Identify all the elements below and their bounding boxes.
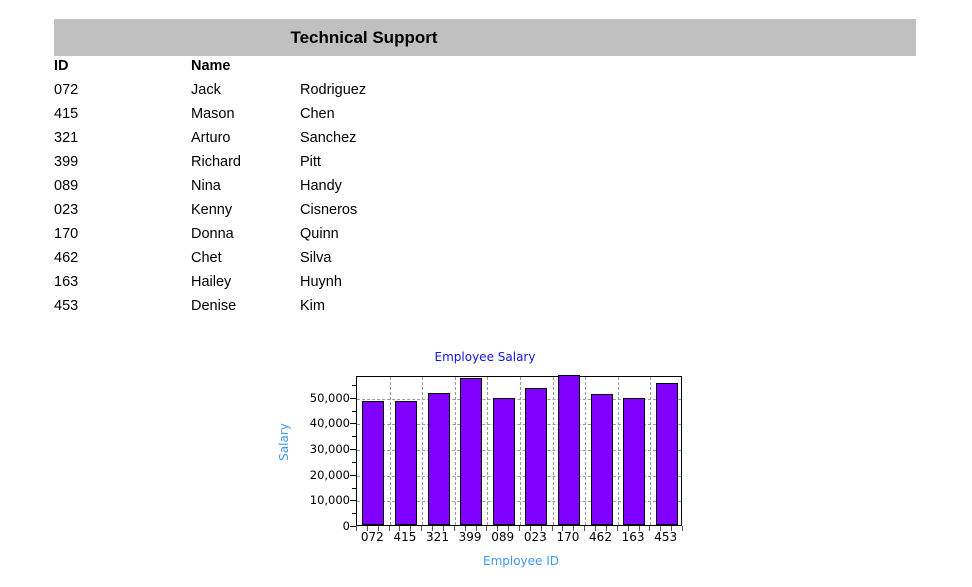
table-row: 089NinaHandy	[54, 178, 754, 202]
cell-first-name: Richard	[191, 154, 241, 170]
chart-plot-area	[356, 376, 682, 526]
y-axis-tick-label: 20,000	[288, 468, 350, 482]
gridline-vertical	[390, 377, 391, 525]
x-axis-tick-mark	[465, 526, 466, 531]
cell-last-name: Handy	[300, 178, 342, 194]
table-header-row: ID Name	[54, 58, 754, 82]
table-row: 415MasonChen	[54, 106, 754, 130]
chart-bar	[395, 401, 417, 525]
x-axis-tick-mark	[562, 526, 563, 531]
y-axis-tick-label: 0	[288, 519, 350, 533]
x-axis-tick-mark	[356, 526, 357, 531]
y-axis-tick-label: 40,000	[288, 416, 350, 430]
x-axis-tick-mark	[671, 526, 672, 531]
x-axis-tick-mark	[530, 526, 531, 531]
table-row: 453DeniseKim	[54, 298, 754, 322]
gridline-vertical	[553, 377, 554, 525]
x-axis-tick-mark	[552, 526, 553, 531]
x-axis-tick-mark	[508, 526, 509, 531]
cell-first-name: Donna	[191, 226, 234, 242]
cell-employee-id: 023	[54, 202, 78, 218]
table-row: 163HaileyHuynh	[54, 274, 754, 298]
x-axis-tick-mark	[367, 526, 368, 531]
chart-bar	[558, 375, 580, 525]
x-axis-tick-mark	[476, 526, 477, 531]
chart-bar	[623, 398, 645, 525]
x-axis-tick-mark	[628, 526, 629, 531]
table-row: 072JackRodriguez	[54, 82, 754, 106]
column-header-name: Name	[191, 58, 231, 74]
employee-salary-chart: Employee Salary Salary Employee ID 010,0…	[270, 345, 700, 575]
x-axis-tick-mark	[454, 526, 455, 531]
report-page: Technical Support ID Name 072JackRodrigu…	[0, 0, 972, 587]
x-axis-tick-mark	[660, 526, 661, 531]
column-header-id: ID	[54, 58, 69, 74]
chart-bar	[525, 388, 547, 525]
x-axis-tick-mark	[606, 526, 607, 531]
x-axis-tick-mark	[399, 526, 400, 531]
cell-employee-id: 163	[54, 274, 78, 290]
cell-employee-id: 415	[54, 106, 78, 122]
cell-last-name: Huynh	[300, 274, 342, 290]
cell-last-name: Sanchez	[300, 130, 356, 146]
page-title: Technical Support	[54, 28, 674, 48]
gridline-vertical	[585, 377, 586, 525]
x-axis-tick-mark	[682, 526, 683, 531]
chart-bar	[460, 378, 482, 525]
chart-title: Employee Salary	[270, 350, 700, 364]
cell-first-name: Denise	[191, 298, 236, 314]
cell-employee-id: 170	[54, 226, 78, 242]
y-axis-tick-label: 50,000	[288, 391, 350, 405]
x-axis-tick-mark	[443, 526, 444, 531]
employee-table: ID Name 072JackRodriguez415MasonChen321A…	[54, 58, 754, 322]
x-axis-tick-mark	[639, 526, 640, 531]
x-axis-tick-mark	[649, 526, 650, 531]
cell-employee-id: 072	[54, 82, 78, 98]
table-row: 170DonnaQuinn	[54, 226, 754, 250]
gridline-vertical	[520, 377, 521, 525]
chart-bar	[493, 398, 515, 525]
table-row: 399RichardPitt	[54, 154, 754, 178]
x-axis-tick-label: 453	[646, 530, 686, 544]
x-axis-tick-mark	[573, 526, 574, 531]
cell-first-name: Jack	[191, 82, 221, 98]
cell-employee-id: 321	[54, 130, 78, 146]
cell-employee-id: 453	[54, 298, 78, 314]
table-row: 023KennyCisneros	[54, 202, 754, 226]
cell-employee-id: 089	[54, 178, 78, 194]
x-axis-tick-mark	[541, 526, 542, 531]
x-axis-tick-mark	[378, 526, 379, 531]
x-axis-tick-mark	[432, 526, 433, 531]
cell-last-name: Silva	[300, 250, 331, 266]
cell-last-name: Kim	[300, 298, 325, 314]
x-axis-tick-mark	[519, 526, 520, 531]
chart-bar	[362, 401, 384, 525]
cell-last-name: Rodriguez	[300, 82, 366, 98]
x-axis-tick-mark	[486, 526, 487, 531]
table-row: 462ChetSilva	[54, 250, 754, 274]
gridline-vertical	[422, 377, 423, 525]
x-axis-tick-mark	[617, 526, 618, 531]
cell-first-name: Mason	[191, 106, 235, 122]
cell-last-name: Chen	[300, 106, 335, 122]
cell-last-name: Pitt	[300, 154, 321, 170]
chart-x-axis-label: Employee ID	[356, 554, 686, 568]
x-axis-tick-mark	[595, 526, 596, 531]
gridline-vertical	[487, 377, 488, 525]
gridline-vertical	[618, 377, 619, 525]
cell-last-name: Cisneros	[300, 202, 357, 218]
cell-first-name: Arturo	[191, 130, 231, 146]
x-axis-tick-mark	[497, 526, 498, 531]
chart-bar	[656, 383, 678, 525]
x-axis-tick-mark	[421, 526, 422, 531]
cell-first-name: Kenny	[191, 202, 232, 218]
table-body: 072JackRodriguez415MasonChen321ArturoSan…	[54, 82, 754, 322]
y-axis-tick-label: 10,000	[288, 493, 350, 507]
x-axis-tick-mark	[584, 526, 585, 531]
x-axis-tick-mark	[410, 526, 411, 531]
gridline-vertical	[650, 377, 651, 525]
cell-employee-id: 462	[54, 250, 78, 266]
x-axis-tick-mark	[389, 526, 390, 531]
table-row: 321ArturoSanchez	[54, 130, 754, 154]
chart-bar	[428, 393, 450, 525]
cell-first-name: Nina	[191, 178, 221, 194]
cell-last-name: Quinn	[300, 226, 339, 242]
gridline-vertical	[455, 377, 456, 525]
chart-bar	[591, 394, 613, 525]
report-header-bar: Technical Support	[54, 19, 916, 56]
y-axis-tick-label: 30,000	[288, 442, 350, 456]
cell-first-name: Hailey	[191, 274, 231, 290]
cell-first-name: Chet	[191, 250, 222, 266]
cell-employee-id: 399	[54, 154, 78, 170]
